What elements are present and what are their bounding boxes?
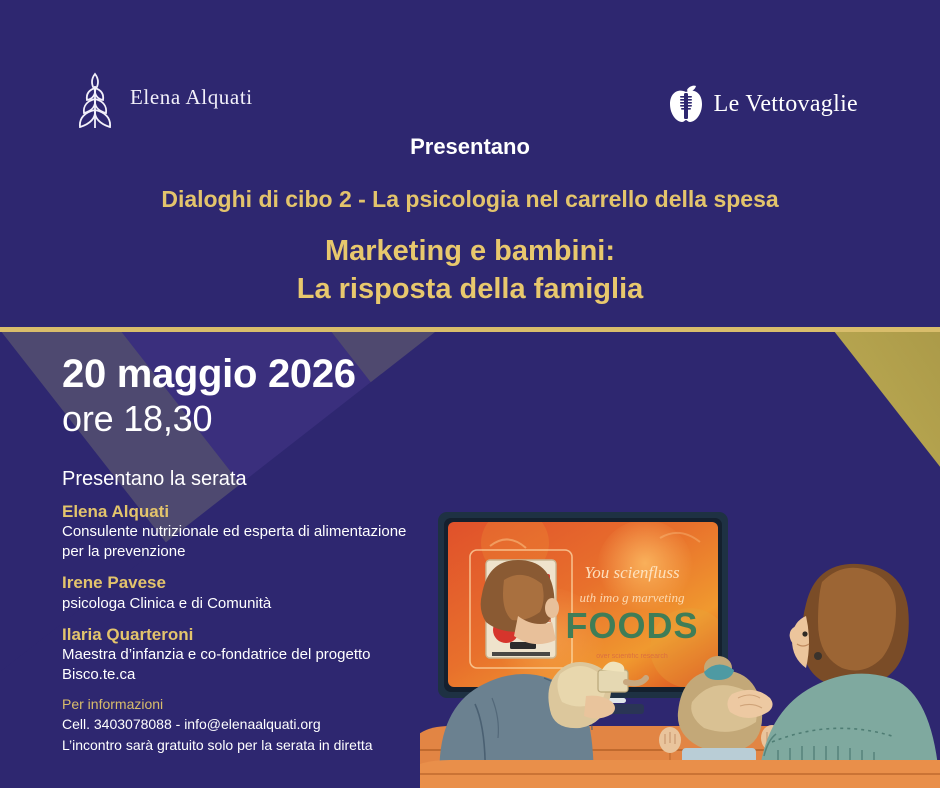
speakers-intro: Presentano la serata [62, 468, 462, 491]
speaker-role-line: per la prevenzione [62, 542, 462, 562]
event-date: 20 maggio 2026 [62, 352, 356, 397]
speaker-role-line: Maestra d’infanzia e co-fondatrice del p… [62, 645, 462, 665]
brand-logo-right-label: Le Vettovaglie [714, 91, 858, 118]
contact-note: L’incontro sarà gratuito solo per la ser… [62, 735, 482, 755]
speaker-name: Elena Alquati [62, 501, 462, 522]
contact-phone-email: Cell. 3403078088 - info@elenaalquati.org [62, 714, 482, 734]
speakers-section: Presentano la serata Elena Alquati Consu… [62, 468, 462, 695]
brand-logo-elena-alquati: Elena Alquati [72, 66, 253, 128]
contact-heading: Per informazioni [62, 694, 482, 714]
speaker-item: Elena Alquati Consulente nutrizionale ed… [62, 501, 462, 561]
speaker-item: Ilaria Quarteroni Maestra d’infanzia e c… [62, 624, 462, 684]
series-subtitle: Dialoghi di cibo 2 - La psicologia nel c… [0, 186, 940, 213]
page-title: Marketing e bambini: La risposta della f… [0, 232, 940, 309]
brand-logo-left-label: Elena Alquati [130, 85, 253, 110]
event-poster: Elena Alquati Le Vettovaglie Presentano … [0, 0, 940, 788]
speaker-name: Irene Pavese [62, 572, 462, 593]
event-time: ore 18,30 [62, 397, 356, 440]
page-title-line-1: Marketing e bambini: [0, 232, 940, 270]
apple-fork-icon [668, 84, 704, 124]
presentano-label: Presentano [0, 134, 940, 160]
speaker-role-line: Consulente nutrizionale ed esperta di al… [62, 522, 462, 542]
svg-text:over scientific research: over scientific research [596, 653, 668, 660]
gold-divider-rule [0, 327, 940, 332]
contact-section: Per informazioni Cell. 3403078088 - info… [62, 694, 482, 755]
speaker-role-line: Bisco.te.ca [62, 665, 462, 685]
speaker-item: Irene Pavese psicologa Clinica e di Comu… [62, 572, 462, 613]
wheat-sprout-icon [72, 66, 118, 128]
event-datetime: 20 maggio 2026 ore 18,30 [62, 352, 356, 440]
svg-text:You scienfluss: You scienfluss [584, 563, 680, 582]
brand-logo-le-vettovaglie: Le Vettovaglie [668, 84, 858, 124]
speaker-role-line: psicologa Clinica e di Comunità [62, 594, 462, 614]
speaker-name: Ilaria Quarteroni [62, 624, 462, 645]
family-watching-tv-illustration: Baby Food You scienfluss uth imo g marve… [420, 498, 940, 788]
svg-text:uth imo g marveting: uth imo g marveting [579, 590, 685, 605]
page-title-line-2: La risposta della famiglia [0, 270, 940, 308]
svg-text:FOODS: FOODS [565, 605, 698, 646]
